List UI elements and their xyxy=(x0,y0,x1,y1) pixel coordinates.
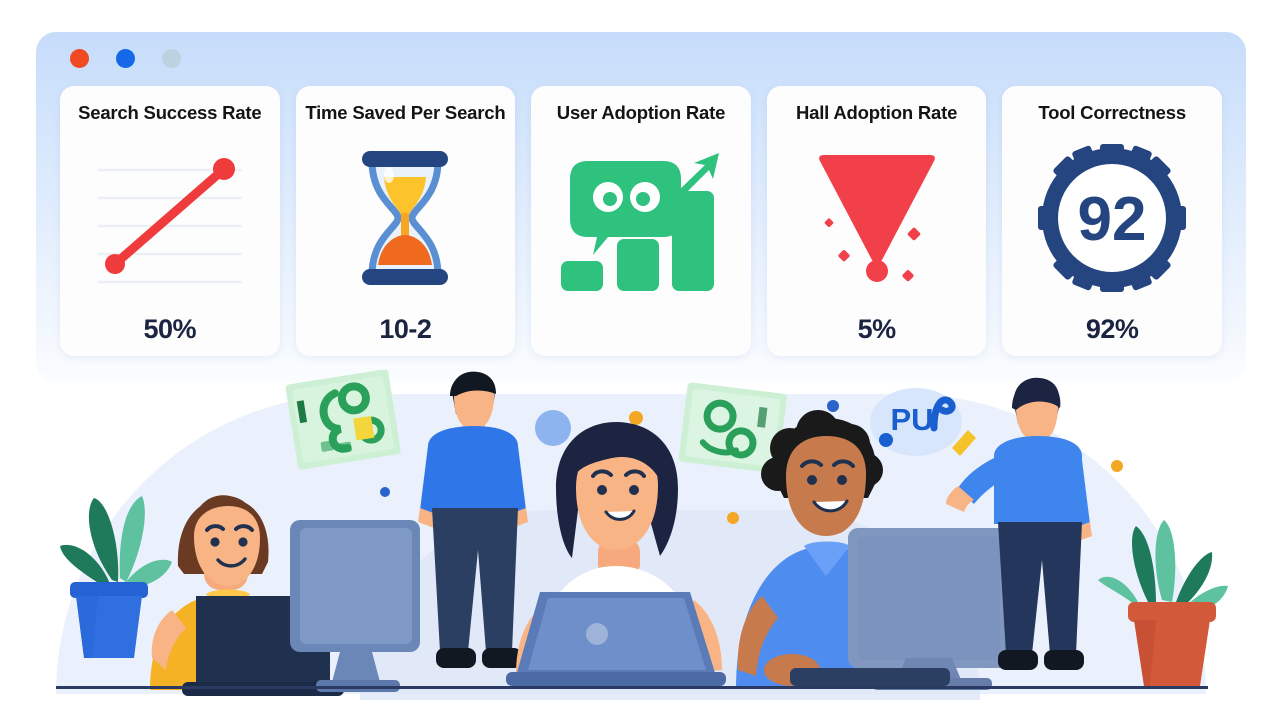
card-title: Hall Adoption Rate xyxy=(796,102,957,124)
confetti-circle-blue xyxy=(535,410,571,446)
gear-icon: 92 xyxy=(1002,124,1222,312)
monitor-right xyxy=(848,528,1010,690)
card-value: 5% xyxy=(858,312,896,346)
laptop-center xyxy=(506,592,726,686)
window-titlebar xyxy=(36,32,1246,84)
card-title: Tool Correctness xyxy=(1038,102,1186,124)
confetti-circle-navy-2 xyxy=(380,487,390,497)
confetti-circle-navy xyxy=(827,400,839,412)
speech-badge-label: PU xyxy=(890,402,933,437)
dashboard-window-panel: Search Success Rate xyxy=(36,32,1246,382)
chatbot-bar-chart-icon xyxy=(531,124,751,312)
confetti-circle-orange-2 xyxy=(727,512,739,524)
card-value: 50% xyxy=(144,312,197,346)
potted-plant-terracotta-pot xyxy=(1098,520,1228,686)
floor-line xyxy=(56,686,1208,689)
line-chart-icon xyxy=(60,124,280,312)
card-value: 92% xyxy=(1086,312,1139,346)
card-value: 10-2 xyxy=(379,312,431,346)
keyboard-right xyxy=(790,668,950,686)
down-triangle-icon xyxy=(767,124,987,312)
window-minimize-dot[interactable] xyxy=(116,49,135,68)
metric-card-user-adoption-rate[interactable]: User Adoption Rate xyxy=(531,86,751,356)
man-standing-blue-tshirt xyxy=(418,372,528,668)
screenshot-root: Search Success Rate xyxy=(0,0,1280,720)
banknote-left xyxy=(285,370,401,470)
metric-card-row: Search Success Rate xyxy=(60,86,1222,356)
card-title: Time Saved Per Search xyxy=(305,102,505,124)
card-title: User Adoption Rate xyxy=(557,102,725,124)
gear-badge-number: 92 xyxy=(1078,185,1147,254)
team-illustration: PU xyxy=(0,370,1280,720)
hourglass-icon xyxy=(296,124,516,312)
metric-card-tool-correctness[interactable]: Tool Correctness xyxy=(1002,86,1222,356)
window-close-dot[interactable] xyxy=(70,49,89,68)
speech-badge-pu: PU xyxy=(870,388,962,456)
metric-card-hall-adoption-rate[interactable]: Hall Adoption Rate 5% xyxy=(767,86,987,356)
metric-card-time-saved-per-search[interactable]: Time Saved Per Search xyxy=(296,86,516,356)
window-maximize-dot[interactable] xyxy=(162,49,181,68)
confetti-circle-orange xyxy=(629,411,643,425)
confetti-circle-orange-3 xyxy=(1111,460,1123,472)
card-title: Search Success Rate xyxy=(78,102,261,124)
metric-card-search-success-rate[interactable]: Search Success Rate xyxy=(60,86,280,356)
